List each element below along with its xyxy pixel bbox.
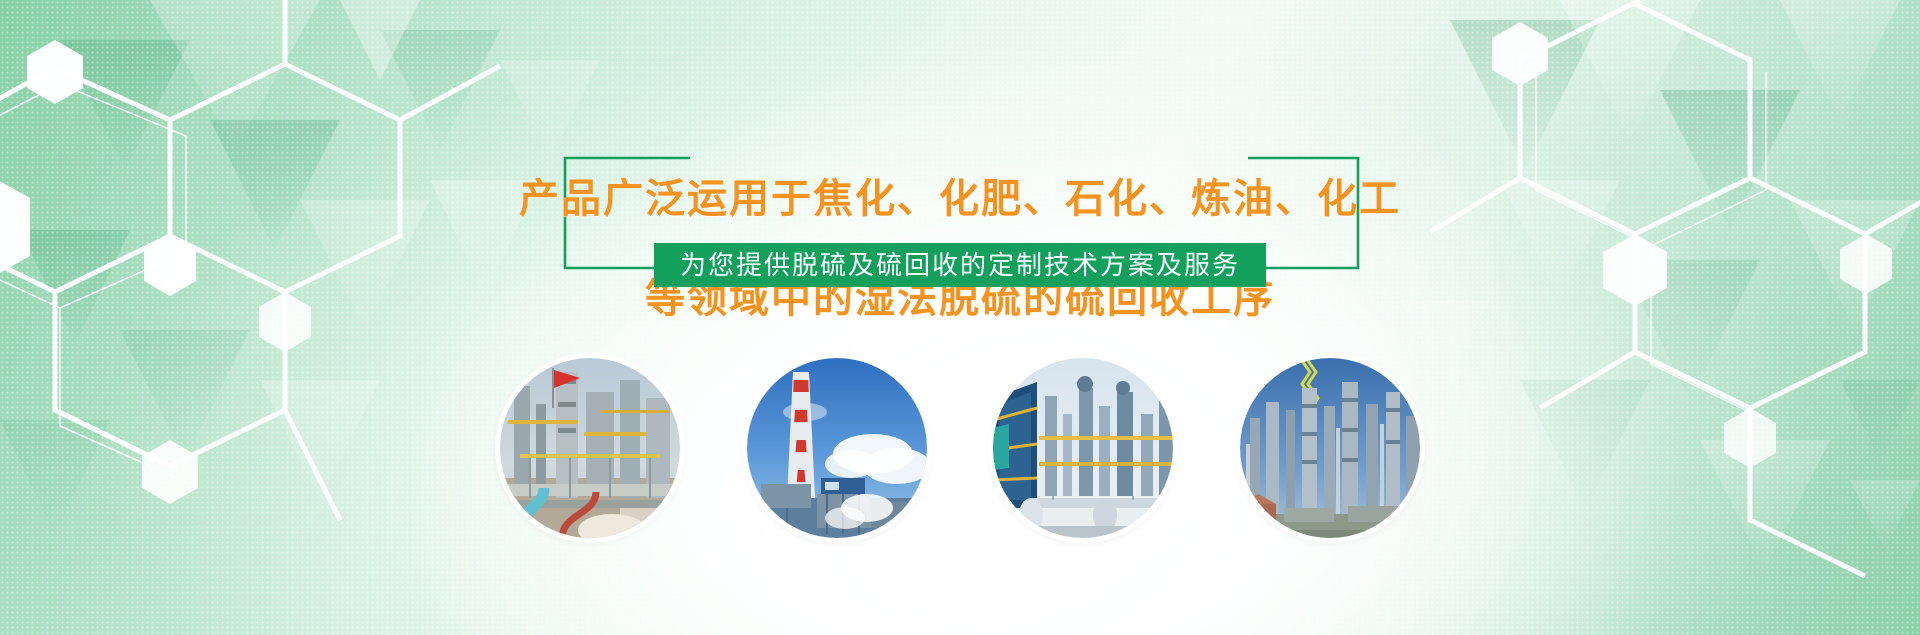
- photo-chimney-stack-art: [747, 358, 927, 538]
- photo-row: [500, 358, 1420, 538]
- promo-banner: 产品广泛运用于焦化、化肥、石化、炼油、化工 等领域中的湿法脱硫的硫回收工序 为您…: [0, 0, 1920, 635]
- photo-desulfurization-plant[interactable]: [500, 358, 680, 538]
- photo-refinery-towers-art: [1240, 358, 1420, 538]
- headline-line-1: 产品广泛运用于焦化、化肥、石化、炼油、化工: [0, 174, 1920, 224]
- photo-desulfurization-plant-art: [500, 358, 680, 538]
- photo-storage-tanks[interactable]: [993, 358, 1173, 538]
- photo-storage-tanks-art: [993, 358, 1173, 538]
- photo-refinery-towers[interactable]: [1240, 358, 1420, 538]
- subtitle-banner: 为您提供脱硫及硫回收的定制技术方案及服务: [654, 243, 1266, 287]
- photo-chimney-stack[interactable]: [747, 358, 927, 538]
